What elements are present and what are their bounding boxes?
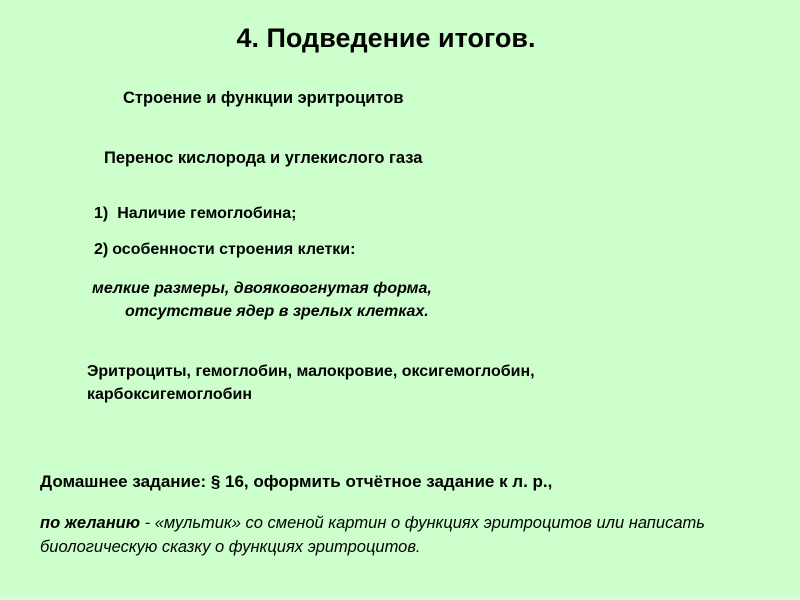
optional-assignment-label: по желанию bbox=[40, 514, 140, 532]
list-item-2-number: 2) bbox=[94, 241, 108, 258]
cell-structure-details: мелкие размеры, двояковогнутая форма, от… bbox=[92, 278, 432, 323]
list-item-2-label: особенности строения клетки: bbox=[112, 241, 355, 258]
bottom-edge-band bbox=[0, 596, 800, 600]
subtitle-structure-and-functions: Строение и функции эритроцитов bbox=[123, 88, 404, 109]
key-terms-line-2: карбоксигемоглобин bbox=[87, 383, 535, 406]
key-terms-line-1: Эритроциты, гемоглобин, малокровие, окси… bbox=[87, 360, 535, 383]
cell-structure-details-line-1: мелкие размеры, двояковогнутая форма, bbox=[92, 280, 432, 297]
list-item-1-label: Наличие гемоглобина; bbox=[117, 205, 296, 222]
slide-title: 4. Подведение итогов. bbox=[0, 24, 772, 54]
cell-structure-details-line-2: отсутствие ядер в зрелых клетках. bbox=[92, 301, 432, 324]
optional-assignment-text: - «мультик» со сменой картин о функциях … bbox=[40, 514, 705, 556]
list-item-1: 1)Наличие гемоглобина; bbox=[94, 204, 297, 224]
subtitle-gas-transport: Перенос кислорода и углекислого газа bbox=[104, 148, 422, 169]
list-item-2: 2)особенности строения клетки: bbox=[94, 240, 355, 260]
presentation-slide: 4. Подведение итогов. Строение и функции… bbox=[0, 0, 800, 600]
list-item-1-number: 1) bbox=[94, 205, 108, 222]
optional-assignment: по желанию - «мультик» со сменой картин … bbox=[40, 512, 770, 560]
homework-assignment: Домашнее задание: § 16, оформить отчётно… bbox=[40, 472, 552, 492]
key-terms-block: Эритроциты, гемоглобин, малокровие, окси… bbox=[87, 360, 535, 406]
